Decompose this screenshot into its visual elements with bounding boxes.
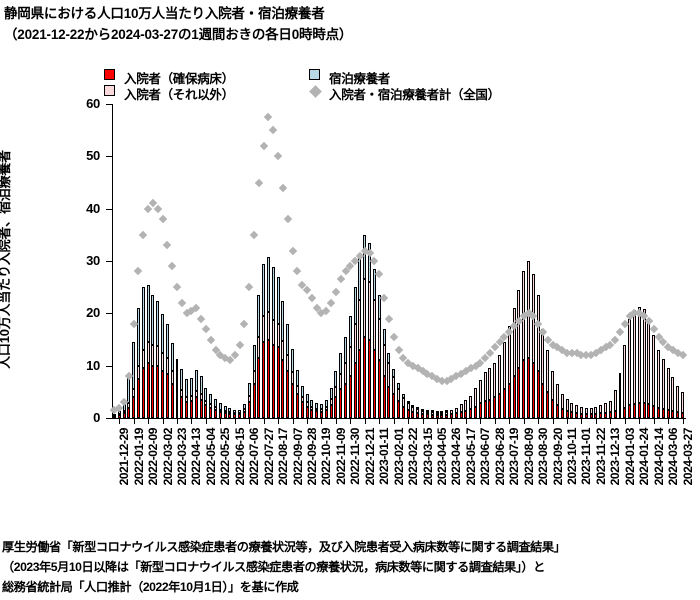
bar-group[interactable] (623, 345, 626, 418)
x-axis-tick-label: 2023-05-17 (464, 428, 478, 485)
bar-group[interactable] (474, 388, 477, 418)
bar-group[interactable] (334, 371, 337, 418)
bar-group[interactable] (402, 394, 405, 418)
bar-segment (219, 403, 222, 409)
bar-segment (310, 400, 313, 406)
bar-segment (161, 314, 164, 353)
bar-segment (604, 403, 607, 412)
bar-segment (204, 401, 207, 405)
bar-group[interactable] (224, 406, 227, 418)
bar-segment (147, 285, 150, 343)
bar-group[interactable] (479, 380, 482, 418)
bar-segment (291, 372, 294, 384)
x-axis-tick-label: 2022-05-04 (204, 428, 218, 485)
bar-group[interactable] (267, 257, 270, 418)
bar-group[interactable] (228, 408, 231, 418)
bar-group[interactable] (575, 405, 578, 418)
national-total-marker (279, 183, 287, 191)
bar-segment (363, 337, 366, 418)
bar-group[interactable] (590, 408, 593, 418)
national-total-marker (178, 299, 186, 307)
bar-group[interactable] (464, 400, 467, 418)
bar-segment (161, 353, 164, 371)
legend-inpatient-secured-beds-swatch (104, 69, 115, 80)
bar-group[interactable] (517, 290, 520, 418)
bar-group[interactable] (233, 410, 236, 418)
national-total-marker (389, 333, 397, 341)
bar-segment (200, 376, 203, 394)
bar-group[interactable] (594, 407, 597, 419)
bar-group[interactable] (339, 353, 342, 418)
bar-segment (257, 295, 260, 337)
bar-segment (609, 401, 612, 413)
legend-national-total-label: 入院者・宿泊療養者計（全国） (329, 84, 500, 103)
bar-segment (436, 411, 439, 413)
bar-segment (407, 401, 410, 404)
bar-group[interactable] (219, 403, 222, 418)
x-axis-tick (480, 418, 481, 424)
bar-segment (450, 410, 453, 414)
bar-segment (411, 405, 414, 407)
bar-segment (431, 412, 434, 415)
bar-segment (431, 410, 434, 412)
bar-group[interactable] (277, 277, 280, 418)
x-axis-tick-label: 2022-03-02 (161, 428, 175, 485)
bar-group[interactable] (652, 335, 655, 418)
bar-segment (392, 394, 395, 418)
bar-group[interactable] (585, 408, 588, 418)
bar-group[interactable] (647, 321, 650, 418)
bar-group[interactable] (387, 353, 390, 418)
bar-segment (676, 386, 679, 412)
national-total-marker (264, 113, 272, 121)
bar-segment (662, 359, 665, 409)
bar-segment (113, 414, 116, 416)
x-axis-tick (350, 418, 351, 424)
bar-group[interactable] (508, 326, 511, 418)
bar-segment (387, 387, 390, 418)
bar-segment (416, 413, 419, 418)
bar-segment (262, 316, 265, 342)
bar-group[interactable] (609, 401, 612, 418)
bar-group[interactable] (306, 394, 309, 418)
bar-segment (421, 409, 424, 411)
x-axis-tick (451, 418, 452, 424)
bar-segment (527, 358, 530, 418)
bar-group[interactable] (450, 410, 453, 418)
bar-group[interactable] (638, 307, 641, 418)
bar-segment (272, 320, 275, 345)
bar-group[interactable] (498, 355, 501, 418)
y-axis-tick-label: 60 (40, 96, 100, 111)
bar-segment (484, 372, 487, 401)
bar-group[interactable] (421, 410, 424, 418)
bar-group[interactable] (527, 261, 530, 418)
bar-segment (667, 368, 670, 410)
bar-group[interactable] (262, 264, 265, 418)
bar-group[interactable] (363, 235, 366, 418)
bar-segment (426, 414, 429, 418)
bar-segment (137, 308, 140, 366)
x-axis-tick (206, 418, 207, 424)
bar-segment (638, 307, 641, 404)
bar-segment (671, 377, 674, 411)
national-total-marker (327, 299, 335, 307)
bar-group[interactable] (431, 412, 434, 418)
bar-segment (493, 363, 496, 397)
x-axis-tick-label: 2023-06-28 (493, 428, 507, 485)
bar-group[interactable] (325, 400, 328, 418)
national-total-marker (645, 317, 653, 325)
x-axis-tick-label: 2022-09-28 (305, 428, 319, 485)
bar-group[interactable] (469, 396, 472, 419)
bar-group[interactable] (599, 405, 602, 418)
x-axis-tick (177, 418, 178, 424)
bar-segment (575, 413, 578, 418)
bar-segment (532, 363, 535, 418)
bar-segment (176, 359, 179, 383)
bar-segment (392, 377, 395, 395)
x-axis-tick (654, 418, 655, 424)
bar-group[interactable] (161, 314, 164, 418)
bar-group[interactable] (484, 372, 487, 418)
bar-group[interactable] (214, 399, 217, 418)
bar-segment (493, 397, 496, 418)
bar-segment (546, 350, 549, 392)
national-total-marker (158, 215, 166, 223)
bar-group[interactable] (200, 376, 203, 418)
bar-segment (310, 410, 313, 418)
bar-group[interactable] (628, 319, 631, 418)
bar-segment (325, 410, 328, 418)
bar-group[interactable] (397, 383, 400, 418)
x-axis-tick-label: 2024-01-03 (623, 428, 637, 485)
bar-group[interactable] (633, 310, 636, 418)
bar-segment (209, 394, 212, 404)
x-axis-tick (336, 418, 337, 424)
bar-group[interactable] (662, 359, 665, 418)
bar-group[interactable] (301, 386, 304, 418)
bar-segment (344, 384, 347, 418)
bar-segment (407, 410, 410, 418)
bar-segment (628, 319, 631, 405)
bar-group[interactable] (580, 407, 583, 418)
bar-segment (354, 287, 357, 324)
bar-group[interactable] (142, 287, 145, 418)
bar-segment (224, 413, 227, 418)
bar-segment (551, 371, 554, 400)
bar-group[interactable] (604, 403, 607, 418)
bar-group[interactable] (488, 368, 491, 418)
bar-segment (445, 415, 448, 418)
bar-segment (156, 301, 159, 345)
legend-hotel-recuperation-swatch (309, 69, 320, 80)
bar-segment (320, 409, 323, 412)
bar-segment (556, 384, 559, 405)
bar-segment (349, 316, 352, 347)
bar-group[interactable] (383, 329, 386, 418)
x-axis-tick-label: 2023-02-22 (406, 428, 420, 485)
x-axis-tick-label: 2024-02-14 (652, 428, 666, 485)
bar-group[interactable] (368, 243, 371, 418)
bar-segment (204, 405, 207, 418)
bar-segment (358, 300, 361, 350)
bar-group[interactable] (503, 342, 506, 418)
bar-segment (185, 379, 188, 397)
bar-segment (262, 342, 265, 418)
bar-group[interactable] (176, 359, 179, 418)
bar-group[interactable] (566, 399, 569, 418)
national-total-marker (250, 231, 258, 239)
bar-segment (541, 384, 544, 418)
bar-group[interactable] (643, 309, 646, 418)
bar-group[interactable] (373, 269, 376, 418)
x-axis-tick (538, 418, 539, 424)
bar-group[interactable] (185, 379, 188, 418)
bar-segment (488, 368, 491, 399)
bar-segment (330, 399, 333, 405)
national-total-marker (139, 231, 147, 239)
bar-segment (460, 412, 463, 418)
bar-group[interactable] (127, 375, 130, 418)
bar-segment (619, 373, 622, 410)
bar-group[interactable] (411, 405, 414, 418)
bar-group[interactable] (286, 324, 289, 418)
bar-segment (209, 404, 212, 407)
bar-segment (363, 279, 366, 337)
national-total-marker (303, 286, 311, 294)
bar-segment (190, 378, 193, 396)
x-axis-tick (235, 418, 236, 424)
bar-segment (147, 363, 150, 418)
bar-group[interactable] (190, 378, 193, 418)
bar-segment (368, 282, 371, 340)
bar-group[interactable] (522, 271, 525, 418)
bar-group[interactable] (272, 267, 275, 418)
bar-segment (566, 399, 569, 411)
bar-segment (541, 329, 544, 384)
bar-group[interactable] (315, 403, 318, 418)
bar-segment (315, 403, 318, 408)
bar-group[interactable] (676, 386, 679, 418)
x-axis-tick (191, 418, 192, 424)
bar-group[interactable] (358, 258, 361, 418)
bar-group[interactable] (344, 337, 347, 418)
bar-segment (214, 410, 217, 418)
national-total-marker (539, 327, 547, 335)
national-total-marker (197, 314, 205, 322)
bar-segment (464, 400, 467, 410)
bar-group[interactable] (416, 408, 419, 418)
bar-segment (383, 329, 386, 345)
bar-segment (132, 389, 135, 397)
bar-group[interactable] (407, 401, 410, 418)
bar-group[interactable] (204, 388, 207, 418)
x-axis-tick (394, 418, 395, 424)
bar-segment (147, 342, 150, 363)
bar-group[interactable] (349, 316, 352, 418)
bar-segment (349, 347, 352, 376)
bar-group[interactable] (156, 301, 159, 418)
bar-segment (445, 412, 448, 415)
bar-group[interactable] (257, 295, 260, 418)
bar-group[interactable] (330, 388, 333, 418)
bar-segment (662, 409, 665, 418)
bar-group[interactable] (354, 287, 357, 418)
bar-group[interactable] (180, 369, 183, 418)
bar-group[interactable] (561, 394, 564, 418)
bar-group[interactable] (657, 350, 660, 418)
bar-group[interactable] (426, 411, 429, 418)
bar-group[interactable] (310, 400, 313, 418)
bar-group[interactable] (132, 342, 135, 418)
legend-inpatient-other-swatch (104, 85, 115, 96)
national-total-marker (284, 215, 292, 223)
y-axis-tick (106, 366, 112, 367)
bar-segment (306, 394, 309, 402)
bar-group[interactable] (440, 413, 443, 418)
bar-group[interactable] (541, 329, 544, 418)
bar-segment (619, 410, 622, 418)
bar-segment (436, 413, 439, 415)
bar-segment (214, 399, 217, 407)
bar-group[interactable] (570, 403, 573, 418)
national-total-marker (380, 293, 388, 301)
bar-group[interactable] (253, 345, 256, 418)
bar-segment (368, 340, 371, 419)
x-axis-tick (249, 418, 250, 424)
bar-group[interactable] (209, 394, 212, 418)
bar-segment (253, 371, 256, 384)
bar-segment (397, 401, 400, 418)
bar-group[interactable] (195, 370, 198, 418)
bar-group[interactable] (455, 408, 458, 418)
bar-segment (431, 415, 434, 418)
bar-segment (585, 408, 588, 414)
bar-group[interactable] (671, 377, 674, 418)
bar-segment (411, 412, 414, 418)
bar-segment (195, 370, 198, 391)
bar-group[interactable] (171, 343, 174, 418)
bar-segment (190, 396, 193, 401)
bar-segment (604, 413, 607, 418)
bar-segment (190, 401, 193, 418)
legend-national-total-swatch (309, 85, 322, 98)
bar-segment (590, 414, 593, 418)
chart-title-line2: （2021-12-22から2024-03-27の1週間おきの各日0時時点） (4, 24, 696, 45)
bar-segment (397, 383, 400, 388)
national-total-marker (202, 325, 210, 333)
bar-segment (455, 408, 458, 413)
bar-group[interactable] (460, 404, 463, 418)
bar-group[interactable] (667, 368, 670, 418)
bar-group[interactable] (151, 295, 154, 418)
bar-segment (171, 384, 174, 418)
bar-segment (416, 407, 419, 409)
bar-segment (580, 407, 583, 414)
bar-group[interactable] (378, 295, 381, 418)
bar-segment (397, 389, 400, 402)
bar-group[interactable] (546, 350, 549, 418)
bar-segment (513, 376, 516, 418)
bar-segment (137, 379, 140, 418)
bar-group[interactable] (614, 390, 617, 418)
bar-group[interactable] (320, 404, 323, 418)
national-total-marker (678, 351, 686, 359)
bar-segment (344, 337, 347, 363)
bar-group[interactable] (556, 384, 559, 418)
chart-source-note: 厚生労働省「新型コロナウイルス感染症患者の療養状況等，及び入院患者受入病床数等に… (2, 537, 698, 597)
bar-segment (248, 396, 251, 402)
bar-segment (614, 411, 617, 418)
bar-group[interactable] (681, 392, 684, 418)
bar-group[interactable] (113, 415, 116, 418)
bar-segment (657, 408, 660, 418)
x-axis-tick (307, 418, 308, 424)
bar-group[interactable] (243, 404, 246, 418)
bar-segment (561, 394, 564, 409)
bar-segment (281, 301, 284, 340)
bar-segment (643, 309, 646, 403)
bar-group[interactable] (619, 373, 622, 418)
bar-segment (474, 407, 477, 419)
bar-group[interactable] (147, 285, 150, 418)
bar-group[interactable] (532, 274, 535, 418)
bar-group[interactable] (238, 410, 241, 418)
x-axis-tick-label: 2024-01-24 (637, 428, 651, 485)
bar-segment (301, 397, 304, 402)
bar-group[interactable] (281, 301, 284, 418)
bar-segment (315, 409, 318, 412)
bar-segment (267, 312, 270, 339)
bar-group[interactable] (166, 324, 169, 418)
bar-segment (123, 413, 126, 418)
bar-segment (151, 345, 154, 366)
bar-group[interactable] (493, 363, 496, 418)
bar-segment (339, 389, 342, 418)
bar-segment (344, 363, 347, 384)
bar-group[interactable] (445, 412, 448, 418)
x-axis-tick-label: 2022-06-15 (233, 428, 247, 485)
bar-group[interactable] (551, 371, 554, 418)
national-total-marker (365, 249, 373, 257)
bar-segment (253, 345, 256, 371)
bar-segment (325, 400, 328, 406)
bar-segment (204, 388, 207, 401)
bar-segment (296, 386, 299, 394)
x-axis-tick-label: 2023-03-15 (421, 428, 435, 485)
x-axis-tick (581, 418, 582, 424)
x-axis-tick-label: 2022-09-07 (291, 428, 305, 485)
bar-segment (281, 341, 284, 361)
national-total-marker (269, 126, 277, 134)
bar-group[interactable] (291, 349, 294, 418)
bar-segment (469, 409, 472, 418)
bar-segment (623, 345, 626, 408)
bar-group[interactable] (392, 369, 395, 418)
bar-segment (330, 405, 333, 418)
bar-group[interactable] (296, 370, 299, 418)
national-total-marker (385, 314, 393, 322)
bar-group[interactable] (537, 295, 540, 418)
bar-segment (171, 371, 174, 384)
bar-segment (185, 402, 188, 418)
bar-group[interactable] (248, 383, 251, 418)
bar-segment (272, 267, 275, 319)
bar-segment (334, 387, 337, 397)
bar-segment (301, 386, 304, 398)
national-total-marker (394, 346, 402, 354)
